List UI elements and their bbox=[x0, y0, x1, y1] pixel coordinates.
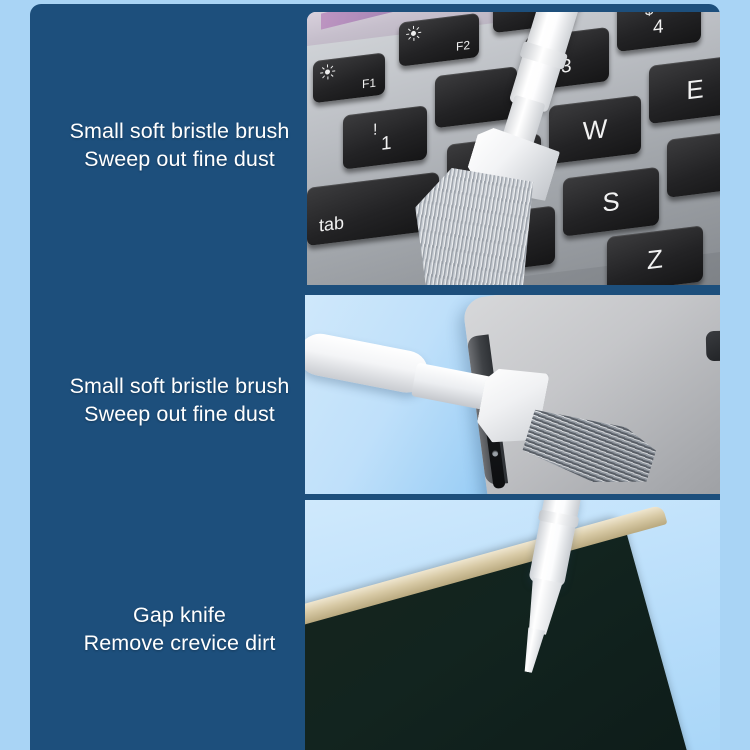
caption-2-line-2: Sweep out fine dust bbox=[47, 400, 312, 428]
caption-1-line-2: Sweep out fine dust bbox=[47, 145, 312, 173]
caption-brush-port: Small soft bristle brush Sweep out fine … bbox=[47, 372, 312, 428]
product-infographic: F1 F2 ! 1 # bbox=[0, 0, 750, 750]
caption-3-line-1: Gap knife bbox=[47, 601, 312, 629]
caption-gap-knife: Gap knife Remove crevice dirt bbox=[47, 601, 312, 657]
key-label-exclaim: ! bbox=[373, 121, 377, 140]
knife-tip bbox=[518, 627, 546, 674]
key-d bbox=[667, 129, 720, 198]
knife-taper bbox=[521, 577, 563, 636]
key-f1: F1 bbox=[313, 52, 385, 103]
key-label-e: E bbox=[686, 73, 703, 106]
key-z: Z bbox=[607, 225, 703, 285]
camera-module-1 bbox=[706, 330, 720, 361]
keyboard-brush-photo: F1 F2 ! 1 # bbox=[307, 12, 720, 285]
info-card: F1 F2 ! 1 # bbox=[30, 4, 720, 750]
caption-3-line-2: Remove crevice dirt bbox=[47, 629, 312, 657]
brightness-icon bbox=[321, 65, 334, 83]
caption-2-line-1: Small soft bristle brush bbox=[47, 372, 312, 400]
key-label-one: 1 bbox=[381, 133, 392, 156]
brush-bristles bbox=[403, 164, 538, 285]
caption-1-line-1: Small soft bristle brush bbox=[47, 117, 312, 145]
phone-port-brush-photo bbox=[305, 295, 720, 494]
key-label-tab: tab bbox=[319, 212, 344, 236]
key-e: E bbox=[649, 55, 720, 124]
phone-edge-knife-photo bbox=[305, 500, 720, 750]
caption-brush-keyboard: Small soft bristle brush Sweep out fine … bbox=[47, 117, 312, 173]
brightness-icon bbox=[407, 26, 420, 44]
key-label-f1: F1 bbox=[362, 76, 376, 92]
key-label-z: Z bbox=[647, 243, 663, 276]
